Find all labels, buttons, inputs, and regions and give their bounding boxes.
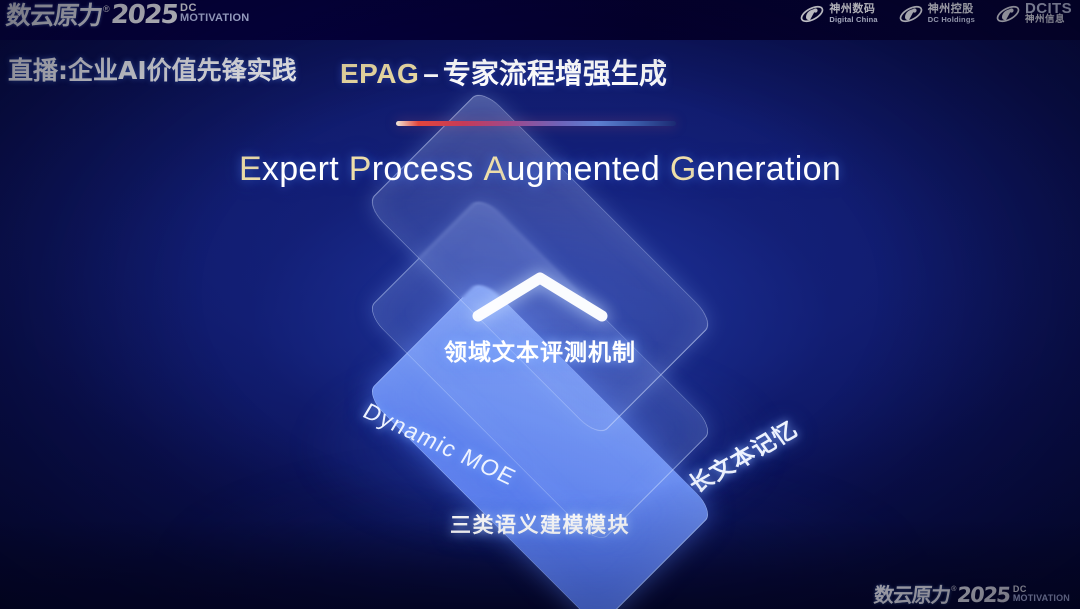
corp-name-en: Digital China [829, 14, 877, 25]
brand-logo-motivation: MOTIVATION [180, 13, 249, 23]
gradient-divider [396, 121, 676, 126]
english-subtitle: Expert Process Augmented Generation [0, 150, 1080, 189]
brand-logo-name: 数云原力 [5, 2, 104, 29]
corp-logo-text: DCITS 神州信息 [1025, 3, 1072, 25]
watermark-suffix: DC MOTIVATION [1013, 585, 1070, 603]
corp-logo-digital-china: 神州数码 Digital China [799, 3, 877, 25]
swirl-icon [995, 3, 1021, 25]
watermark-name: 数云原力 [873, 584, 951, 606]
swirl-icon [799, 3, 825, 25]
corp-name-en: DCITS [1025, 3, 1072, 14]
page-title-dash: – [419, 58, 443, 89]
corp-name-cn: 神州控股 [928, 3, 975, 14]
watermark-registered-mark: ® [951, 586, 956, 593]
subtitle-cap-e: E [239, 150, 262, 188]
watermark-year: 2025 [956, 584, 1011, 606]
subtitle-word-generation: eneration [697, 150, 841, 188]
swirl-icon [898, 3, 924, 25]
layer-top-label: 领域文本评测机制 [444, 333, 636, 367]
subtitle-word-process: rocess [372, 150, 474, 188]
layer-bottom-label: 三类语义建模模块 [450, 509, 630, 539]
subtitle-word-augmented: ugmented [506, 150, 660, 188]
brand-logo-year: 2025 [109, 2, 178, 29]
subtitle-word-expert: xpert [262, 150, 339, 188]
corporate-logo-row: 神州数码 Digital China 神州控股 DC Holdings [799, 3, 1072, 25]
corp-name-cn: 神州信息 [1025, 14, 1072, 25]
corp-logo-text: 神州数码 Digital China [829, 3, 877, 25]
slide-root: 领域文本评测机制 Dynamic MOE 长文本记忆 三类语义建模模块 数云原力… [0, 0, 1080, 609]
subtitle-cap-a: A [483, 150, 506, 188]
subtitle-cap-g: G [670, 150, 697, 188]
brand-registered-mark: ® [103, 4, 110, 14]
corp-name-cn: 神州数码 [829, 3, 877, 14]
brand-watermark: 数云原力 ® 2025 DC MOTIVATION [874, 584, 1070, 606]
corp-logo-dc-holdings: 神州控股 DC Holdings [898, 3, 975, 25]
page-title-chinese: 专家流程增强生成 [443, 57, 667, 90]
subtitle-cap-p: P [349, 150, 372, 188]
page-title-acronym: EPAG [340, 58, 419, 89]
page-title: EPAG–专家流程增强生成 [340, 52, 667, 92]
brand-logo: 数云原力 ® 2025 DC MOTIVATION [6, 2, 249, 29]
brand-logo-suffix: DC MOTIVATION [180, 3, 249, 23]
watermark-motivation: MOTIVATION [1013, 594, 1070, 603]
chevron-up-icon [468, 268, 612, 324]
corp-name-en: DC Holdings [928, 14, 975, 25]
live-session-title: 直播:企业AI价值先锋实践 [8, 51, 297, 87]
corp-logo-text: 神州控股 DC Holdings [928, 3, 975, 25]
corp-logo-dcits: DCITS 神州信息 [995, 3, 1072, 25]
